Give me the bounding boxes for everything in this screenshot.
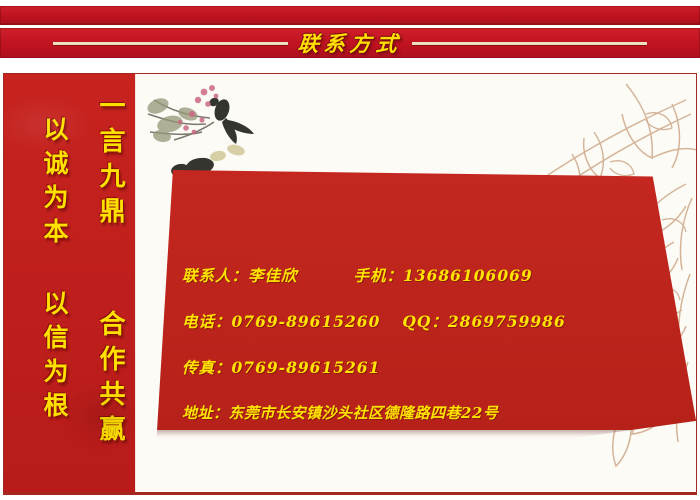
fax-label: 传真：	[182, 356, 232, 378]
mobile-label: 手机：	[354, 264, 404, 286]
contact-row-fax: 传真： 0769-89615261	[182, 356, 682, 378]
qq-label: QQ：	[402, 310, 448, 332]
page-title: 联系方式	[286, 28, 413, 58]
contact-row-person-mobile: 联系人： 李佳欣 手机： 13686106069	[182, 264, 682, 286]
qq-value: 2869759986	[448, 312, 566, 331]
card-bottom-rule	[3, 493, 697, 495]
banner-rule-left	[53, 42, 288, 45]
header-banner: 联系方式	[0, 6, 700, 58]
couplet-right-column: 一言九鼎 合作共赢	[97, 92, 123, 474]
address-value: 东莞市长安镇沙头社区德隆路四巷22号	[229, 402, 499, 423]
content-card: 一言九鼎 合作共赢 以诚为本 以信为根	[3, 73, 697, 493]
fax-value: 0769-89615261	[232, 358, 381, 377]
address-label: 地址：	[182, 402, 229, 423]
contact-row-address: 地址： 东莞市长安镇沙头社区德隆路四巷22号	[182, 402, 682, 423]
phone-value: 0769-89615260	[232, 312, 381, 331]
banner-top-stripe	[0, 6, 700, 25]
contact-info-lines: 联系人： 李佳欣 手机： 13686106069 电话： 0769-896152…	[182, 264, 682, 447]
banner-rule-right	[412, 42, 647, 45]
mobile-value: 13686106069	[403, 266, 533, 285]
couplet-panel: 一言九鼎 合作共赢 以诚为本 以信为根	[4, 74, 136, 492]
phone-label: 电话：	[182, 310, 232, 332]
contact-row-phone-qq: 电话： 0769-89615260 QQ： 2869759986	[182, 310, 682, 332]
page-root: 联系方式 一言九鼎 合作共赢 以诚为本 以信为根	[0, 0, 700, 500]
contact-person-label: 联系人：	[182, 264, 248, 286]
contact-person-value: 李佳欣	[248, 264, 298, 286]
couplet-left-column: 以诚为本 以信为根	[42, 116, 67, 472]
ink-painting-plum-blossom-icon	[144, 80, 274, 185]
banner-title-group: 联系方式	[0, 28, 700, 58]
